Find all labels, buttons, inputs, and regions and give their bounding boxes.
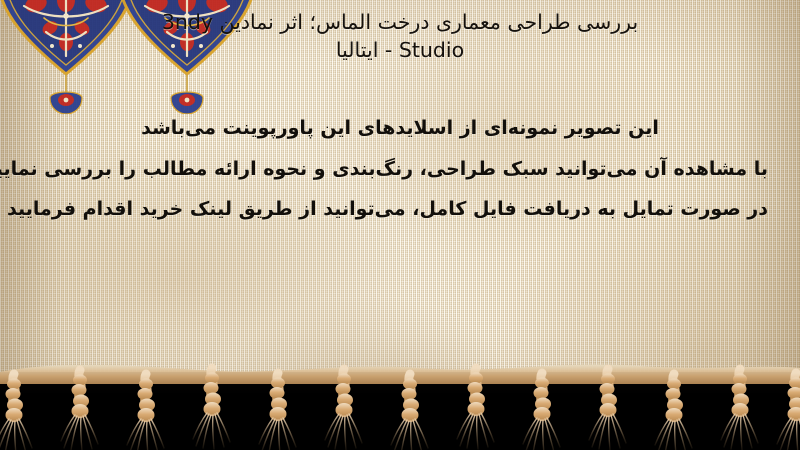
fringe-tassels-svg — [0, 350, 800, 450]
slide-title: بررسی طراحی معماری درخت الماس؛ اثر نمادی… — [0, 8, 800, 65]
slide-body-text: این تصویر نمونه‌ای از اسلایدهای این پاور… — [0, 108, 800, 230]
carpet-fringe-ornament — [0, 350, 800, 450]
title-line-1: بررسی طراحی معماری درخت الماس؛ اثر نمادی… — [44, 8, 756, 36]
body-line-1: این تصویر نمونه‌ای از اسلایدهای این پاور… — [32, 108, 768, 149]
body-line-2: با مشاهده آن می‌توانید سبک طراحی، رنگ‌بن… — [32, 149, 768, 190]
body-line-3: در صورت تمایل به دریافت فایل کامل، می‌تو… — [32, 189, 768, 230]
presentation-slide: بررسی طراحی معماری درخت الماس؛ اثر نمادی… — [0, 0, 800, 450]
title-line-2: Studio - ایتالیا — [44, 36, 756, 64]
